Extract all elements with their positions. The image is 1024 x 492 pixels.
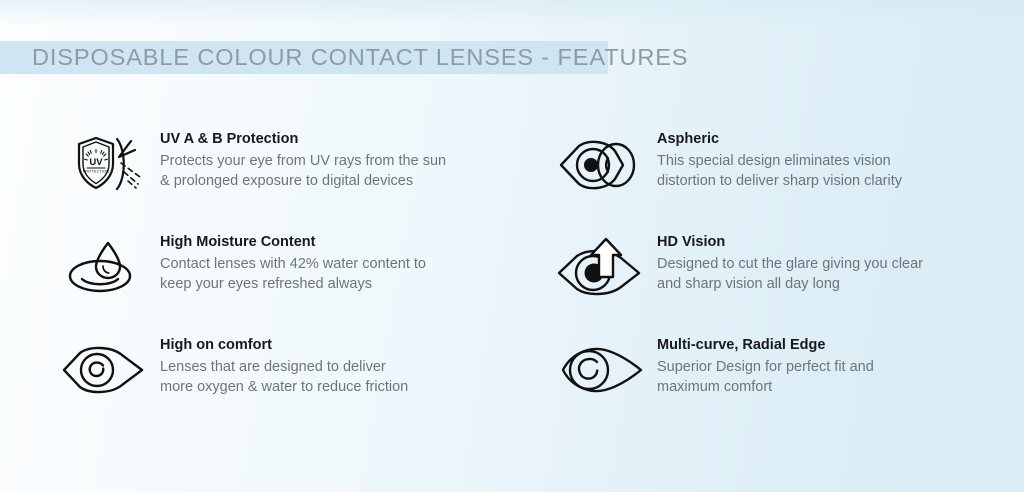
- description-line: Superior Design for perfect fit and: [657, 357, 874, 377]
- feature-title: HD Vision: [657, 233, 923, 252]
- feature-text-block: High Moisture Content Contact lenses wit…: [160, 231, 426, 294]
- description-line: Designed to cut the glare giving you cle…: [657, 254, 923, 274]
- features-infographic: DISPOSABLE COLOUR CONTACT LENSES - FEATU…: [0, 0, 1024, 492]
- feature-description: Lenses that are designed to deliver more…: [160, 357, 408, 397]
- svg-text:UV: UV: [89, 157, 103, 168]
- description-line: This special design eliminates vision: [657, 151, 902, 171]
- description-line: Protects your eye from UV rays from the …: [160, 151, 446, 171]
- feature-title: High Moisture Content: [160, 233, 426, 252]
- feature-item-uv-protection: UV PROTECTION: [48, 128, 446, 200]
- description-line: Contact lenses with 42% water content to: [160, 254, 426, 274]
- multi-curve-radial-edge-eye-icon: [545, 334, 657, 406]
- feature-text-block: High on comfort Lenses that are designed…: [160, 334, 408, 397]
- water-drop-icon: [48, 231, 160, 303]
- feature-title: Aspheric: [657, 130, 902, 149]
- hd-vision-eye-arrow-icon: [545, 231, 657, 303]
- feature-item-high-on-comfort: High on comfort Lenses that are designed…: [48, 334, 408, 406]
- description-line: Lenses that are designed to deliver: [160, 357, 408, 377]
- feature-item-multi-curve-radial-edge: Multi-curve, Radial Edge Superior Design…: [545, 334, 874, 406]
- feature-item-hd-vision: HD Vision Designed to cut the glare givi…: [545, 231, 923, 303]
- description-line: more oxygen & water to reduce friction: [160, 377, 408, 397]
- description-line: keep your eyes refreshed always: [160, 274, 426, 294]
- feature-title: UV A & B Protection: [160, 130, 446, 149]
- svg-text:PROTECTION: PROTECTION: [83, 170, 110, 174]
- feature-description: Contact lenses with 42% water content to…: [160, 254, 426, 294]
- feature-text-block: UV A & B Protection Protects your eye fr…: [160, 128, 446, 191]
- eye-comfort-icon: [48, 334, 160, 406]
- feature-text-block: HD Vision Designed to cut the glare givi…: [657, 231, 923, 294]
- description-line: distortion to deliver sharp vision clari…: [657, 171, 902, 191]
- feature-description: Superior Design for perfect fit and maxi…: [657, 357, 874, 397]
- feature-description: This special design eliminates vision di…: [657, 151, 902, 191]
- feature-title: High on comfort: [160, 336, 408, 355]
- feature-title: Multi-curve, Radial Edge: [657, 336, 874, 355]
- feature-item-aspheric: Aspheric This special design eliminates …: [545, 128, 902, 200]
- feature-text-block: Multi-curve, Radial Edge Superior Design…: [657, 334, 874, 397]
- uv-shield-icon: UV PROTECTION: [48, 128, 160, 200]
- feature-item-high-moisture-content: High Moisture Content Contact lenses wit…: [48, 231, 426, 303]
- description-line: and sharp vision all day long: [657, 274, 923, 294]
- description-line: maximum comfort: [657, 377, 874, 397]
- aspheric-lens-eye-icon: [545, 128, 657, 200]
- feature-description: Protects your eye from UV rays from the …: [160, 151, 446, 191]
- feature-description: Designed to cut the glare giving you cle…: [657, 254, 923, 294]
- page-title: DISPOSABLE COLOUR CONTACT LENSES - FEATU…: [32, 41, 688, 74]
- feature-text-block: Aspheric This special design eliminates …: [657, 128, 902, 191]
- description-line: & prolonged exposure to digital devices: [160, 171, 446, 191]
